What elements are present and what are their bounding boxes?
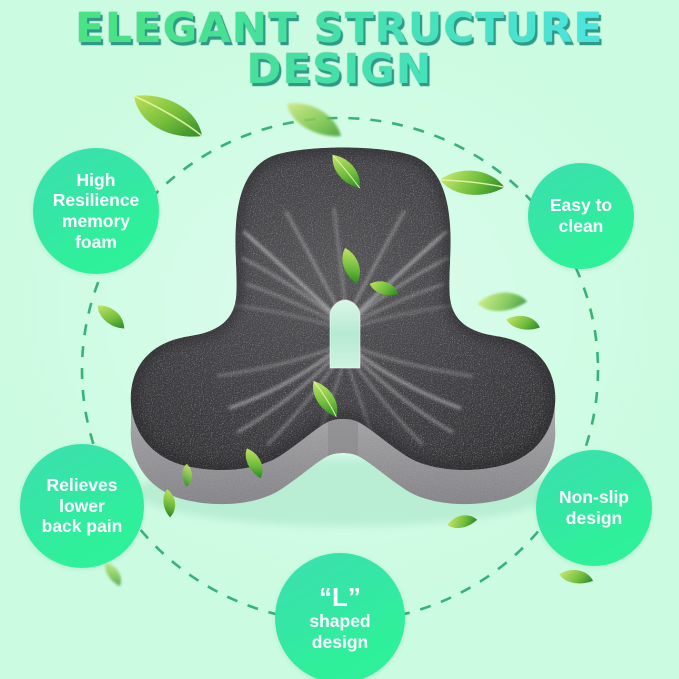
- poster-title: ELEGANT STRUCTURE DESIGN: [0, 8, 679, 90]
- feature-bubble-label: Relieveslowerback pain: [36, 475, 129, 537]
- feature-bubble-l-shaped-design[interactable]: “L” shapeddesign: [275, 553, 405, 679]
- feature-bubble-label: HighResiliencememoryfoam: [47, 170, 146, 253]
- leaf-icon: [131, 90, 205, 142]
- feature-bubble-sublabel: shapeddesign: [303, 611, 376, 652]
- feature-bubble-easy-to-clean[interactable]: Easy toclean: [528, 163, 634, 269]
- leaf-icon: [285, 100, 343, 140]
- feature-bubble-quoted-letter: “L”: [303, 584, 376, 611]
- feature-bubble-high-resilience-memory-foam[interactable]: HighResiliencememoryfoam: [33, 148, 159, 274]
- feature-bubble-label: “L” shapeddesign: [297, 584, 382, 653]
- memory-foam-seat-cushion: [118, 140, 568, 540]
- leaf-icon: [556, 561, 595, 592]
- product-infographic-poster: ELEGANT STRUCTURE DESIGN HighResiliencem…: [0, 0, 679, 679]
- poster-title-container: ELEGANT STRUCTURE DESIGN: [0, 8, 679, 90]
- feature-bubble-label: Easy toclean: [544, 195, 618, 236]
- feature-bubble-non-slip-design[interactable]: Non-slipdesign: [536, 450, 652, 566]
- feature-bubble-label: Non-slipdesign: [553, 487, 635, 528]
- feature-bubble-relieves-lower-back-pain[interactable]: Relieveslowerback pain: [20, 444, 144, 568]
